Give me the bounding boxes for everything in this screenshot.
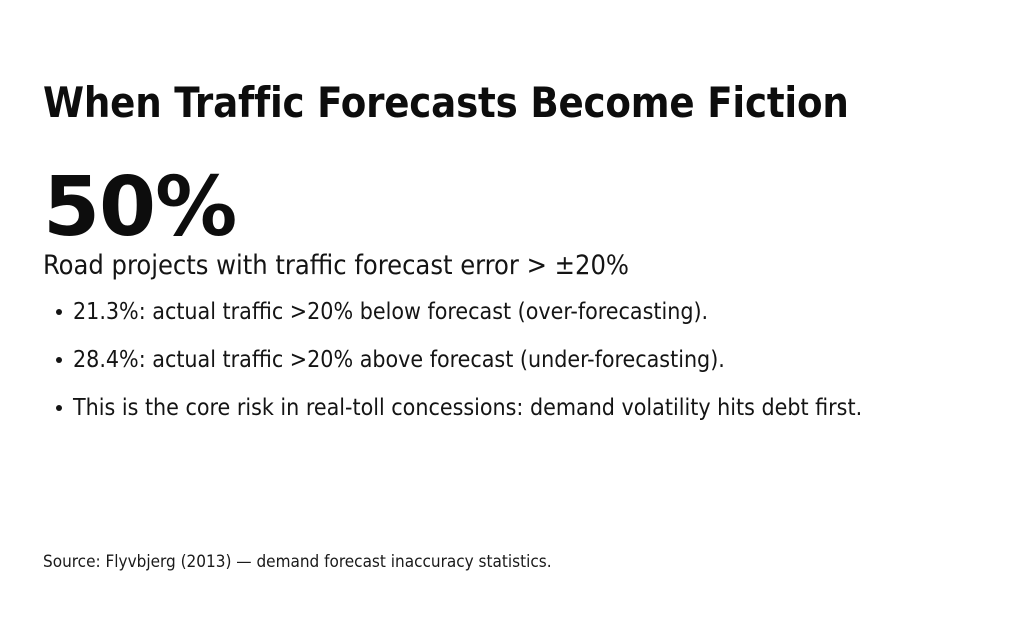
list-item: This is the core risk in real-toll conce…	[43, 396, 993, 420]
bullet-dot-icon	[56, 357, 62, 363]
bullet-dot-icon	[56, 309, 62, 315]
bullet-dot-icon	[56, 405, 62, 411]
stat-value: 50%	[43, 168, 983, 248]
list-item: 21.3%: actual traffic >20% below forecas…	[43, 300, 993, 324]
list-item-label: 21.3%: actual traffic >20% below forecas…	[73, 299, 708, 325]
list-item-label: 28.4%: actual traffic >20% above forecas…	[73, 347, 725, 373]
source-note: Source: Flyvbjerg (2013) — demand foreca…	[43, 551, 552, 573]
list-item-label: This is the core risk in real-toll conce…	[73, 395, 862, 421]
bullet-list: 21.3%: actual traffic >20% below forecas…	[43, 300, 993, 420]
key-stat-block: 50% Road projects with traffic forecast …	[43, 168, 983, 283]
page-title: When Traffic Forecasts Become Fiction	[43, 78, 849, 128]
slide-canvas: When Traffic Forecasts Become Fiction 50…	[0, 0, 1024, 621]
stat-label: Road projects with traffic forecast erro…	[43, 249, 983, 283]
list-item: 28.4%: actual traffic >20% above forecas…	[43, 348, 993, 372]
